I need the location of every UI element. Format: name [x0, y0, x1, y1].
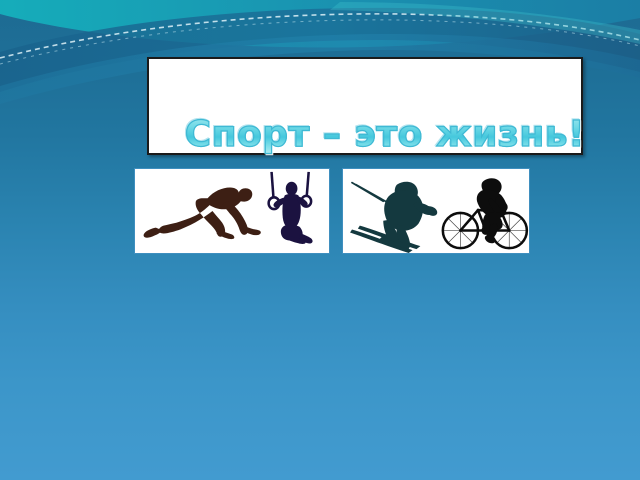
gymnast-on-rings-silhouette	[269, 172, 313, 244]
title-card: Спорт – это жизнь!	[147, 57, 583, 155]
downhill-skier-silhouette	[350, 182, 437, 253]
photo-track-and-gymnastics[interactable]	[134, 168, 330, 254]
page-title: Спорт – это жизнь!	[185, 115, 585, 155]
sprinter-at-starting-block-silhouette	[144, 188, 261, 240]
road-cyclist-silhouette	[443, 178, 527, 248]
photo-strip	[134, 168, 530, 254]
photo-skiing-and-cycling[interactable]	[342, 168, 530, 254]
presentation-slide: Спорт – это жизнь!	[0, 0, 640, 480]
